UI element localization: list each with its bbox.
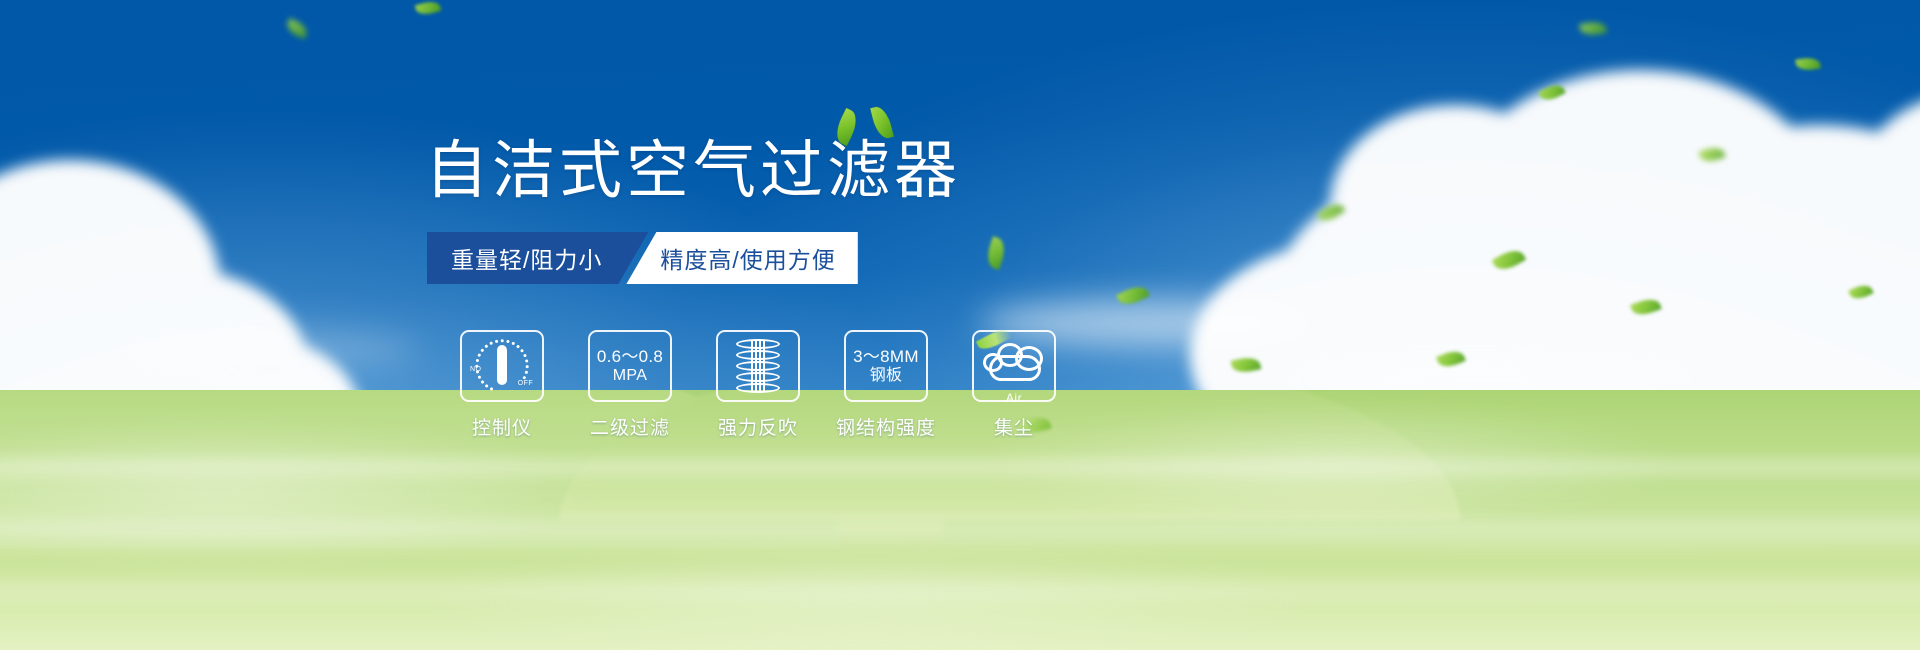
feature-dust-collection[interactable]: Air 集尘 xyxy=(950,330,1078,440)
feature-icon-box: NO OFF xyxy=(460,330,544,402)
pressure-value-icon: 0.6～0.8 MPA xyxy=(597,347,663,386)
tab-highprecision-easyuse[interactable]: 精度高/使用方便 xyxy=(626,232,857,284)
dial-label-no: NO xyxy=(470,366,481,373)
feature-label: 集尘 xyxy=(994,413,1034,440)
feature-controller[interactable]: NO OFF 控制仪 xyxy=(438,330,566,440)
feature-icon-box xyxy=(716,330,800,402)
air-cloud-icon: Air xyxy=(981,339,1047,393)
feature-two-stage-filtration[interactable]: 0.6～0.8 MPA 二级过滤 xyxy=(566,330,694,440)
feature-label: 钢结构强度 xyxy=(836,413,936,440)
feature-icon-box: Air xyxy=(972,330,1056,402)
feature-powerful-backblow[interactable]: 强力反吹 xyxy=(694,330,822,440)
feature-list: NO OFF 控制仪 0.6～0.8 MPA 二级过滤 xyxy=(438,330,1078,440)
steel-material: 钢板 xyxy=(853,367,919,386)
steel-plate-icon: 3～8MM 钢板 xyxy=(853,347,919,386)
control-dial-icon: NO OFF xyxy=(471,338,533,394)
banner-content: 自洁式空气过滤器 重量轻/阻力小 精度高/使用方便 xyxy=(0,0,1920,650)
feature-label: 强力反吹 xyxy=(718,413,798,440)
feature-label: 控制仪 xyxy=(472,413,532,440)
feature-steel-strength[interactable]: 3～8MM 钢板 钢结构强度 xyxy=(822,330,950,440)
pressure-unit: MPA xyxy=(597,367,663,386)
feature-icon-box: 3～8MM 钢板 xyxy=(844,330,928,402)
dial-needle xyxy=(497,345,507,385)
steel-thickness: 3～8MM xyxy=(853,347,919,366)
air-label: Air xyxy=(981,391,1047,405)
dial-label-off: OFF xyxy=(518,380,533,387)
pressure-range: 0.6～0.8 xyxy=(597,347,663,366)
hero-banner: 自洁式空气过滤器 重量轻/阻力小 精度高/使用方便 xyxy=(0,0,1920,650)
coil-filter-icon xyxy=(731,337,785,395)
feature-label: 二级过滤 xyxy=(590,413,670,440)
feature-icon-box: 0.6～0.8 MPA xyxy=(588,330,672,402)
page-title: 自洁式空气过滤器 xyxy=(425,136,961,207)
subtitle-tabs: 重量轻/阻力小 精度高/使用方便 xyxy=(427,232,858,284)
tab-lightweight-lowresistance[interactable]: 重量轻/阻力小 xyxy=(427,232,648,284)
